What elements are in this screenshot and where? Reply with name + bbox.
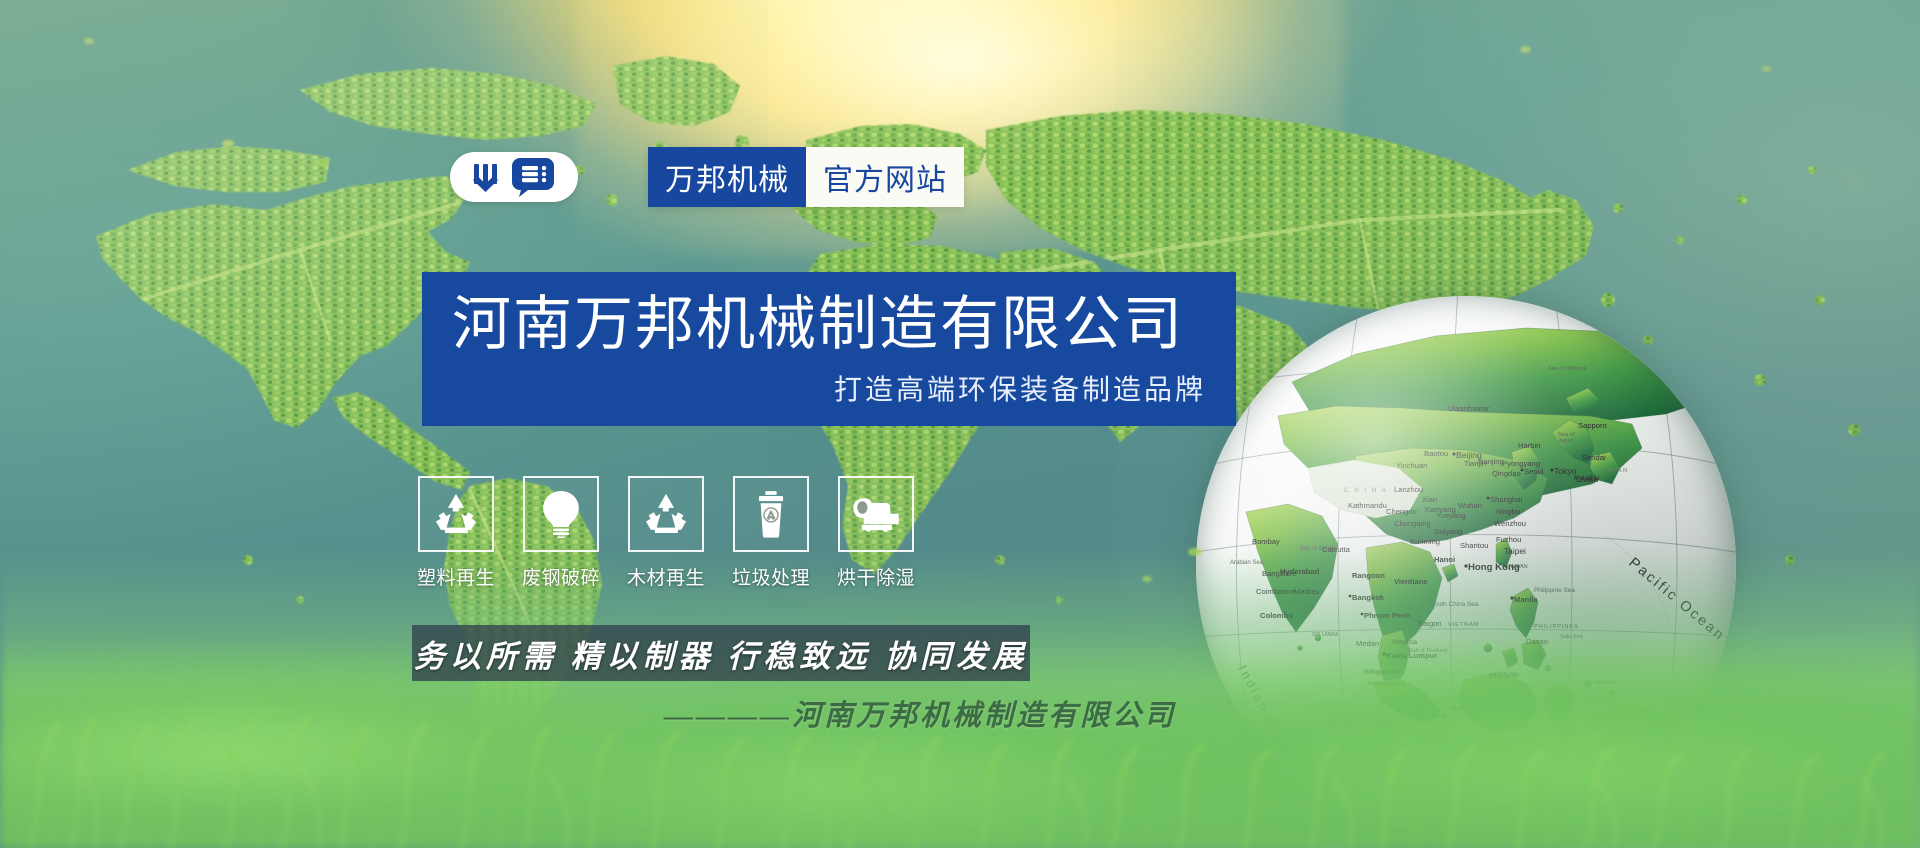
hero-title-panel: 河南万邦机械制造有限公司 打造高端环保装备制造品牌: [422, 272, 1236, 426]
logo-e-bubble-icon: [510, 156, 556, 198]
feature-label: 垃圾处理: [732, 563, 810, 590]
svg-text:Harbin: Harbin: [1518, 441, 1540, 450]
feature-label: 木材再生: [627, 563, 705, 590]
svg-text:Yueyang: Yueyang: [1436, 511, 1466, 520]
svg-text:Qingdao: Qingdao: [1492, 469, 1521, 478]
feature-label: 塑料再生: [417, 563, 495, 590]
svg-text:Chengdu: Chengdu: [1386, 507, 1417, 516]
company-name: 河南万邦机械制造有限公司: [452, 294, 1206, 356]
recycle-icon: [643, 491, 689, 537]
svg-text:Lanzhou: Lanzhou: [1394, 485, 1423, 494]
feature-icon-box[interactable]: [733, 476, 809, 552]
svg-text:Chongqing: Chongqing: [1394, 519, 1431, 528]
logo-badge[interactable]: [450, 152, 578, 202]
svg-text:Sea of Japan: Sea of Japan: [1558, 432, 1576, 444]
feature-icon-box[interactable]: [838, 476, 914, 552]
svg-text:Shanghai: Shanghai: [1490, 495, 1522, 504]
svg-text:Bombay: Bombay: [1252, 537, 1280, 546]
lightbulb-icon: [540, 490, 582, 538]
dryer-machine-icon: [852, 496, 900, 532]
company-tagline: 打造高端环保装备制造品牌: [452, 368, 1206, 408]
slogan-attribution: ————河南万邦机械制造有限公司: [660, 692, 1180, 734]
feature-icon-box[interactable]: [628, 476, 704, 552]
brand-logo[interactable]: [450, 152, 578, 202]
svg-text:Pyongyang: Pyongyang: [1502, 459, 1540, 468]
slogan-bar: 务以所需 精以制器 行稳致远 协同发展: [412, 625, 1030, 681]
svg-text:Ulaanbaatar: Ulaanbaatar: [1448, 404, 1490, 413]
slogan-text: 务以所需 精以制器 行稳致远 协同发展: [414, 631, 1028, 676]
hero-banner: Pacific Ocean Indian Ocean South China S…: [0, 0, 1920, 848]
svg-text:Xian: Xian: [1422, 495, 1437, 504]
site-nav-tabs[interactable]: 万邦机械 官方网站: [648, 147, 964, 207]
leaf-fleck: [84, 38, 94, 44]
feature-icon-box[interactable]: [523, 476, 599, 552]
svg-text:Sea of Okhotsk: Sea of Okhotsk: [1548, 366, 1586, 372]
leaf-fleck: [1762, 66, 1771, 72]
svg-text:Kyushu: Kyushu: [1574, 473, 1599, 482]
leaf-fleck: [1142, 576, 1152, 582]
feature-icon-box[interactable]: [418, 476, 494, 552]
feature-label: 烘干除湿: [837, 563, 915, 590]
svg-text:Wuhan: Wuhan: [1458, 501, 1482, 510]
leaf-fleck: [1520, 46, 1531, 53]
feature-item-drying-dehumidifying[interactable]: 烘干除湿: [838, 476, 914, 590]
logo-w-icon: [472, 162, 506, 192]
feature-icon-row: 塑料再生 废钢破碎: [418, 476, 914, 590]
svg-text:Ningbo: Ningbo: [1496, 507, 1520, 516]
svg-text:Kathmandu: Kathmandu: [1348, 501, 1387, 510]
feature-item-waste-treatment[interactable]: 垃圾处理: [733, 476, 809, 590]
tab-brand[interactable]: 万邦机械: [648, 147, 806, 207]
svg-text:C H I N A: C H I N A: [1344, 487, 1388, 494]
feature-item-wood-recycling[interactable]: 木材再生: [628, 476, 704, 590]
svg-text:Seoul: Seoul: [1524, 467, 1544, 476]
svg-text:Sapporo: Sapporo: [1578, 421, 1607, 430]
svg-text:Sendai: Sendai: [1582, 453, 1606, 462]
svg-text:Wenzhou: Wenzhou: [1494, 519, 1526, 528]
svg-text:Kunming: Kunming: [1410, 537, 1440, 546]
leaf-fleck: [1188, 548, 1202, 556]
svg-text:Fuzhou: Fuzhou: [1496, 535, 1521, 544]
svg-text:JAPAN: JAPAN: [1604, 468, 1628, 474]
svg-text:Yinchuan: Yinchuan: [1396, 461, 1427, 470]
svg-text:Baotou: Baotou: [1424, 449, 1448, 458]
trash-bin-icon: [754, 490, 788, 538]
feature-label: 废钢破碎: [522, 563, 600, 590]
leaf-fleck: [222, 140, 234, 147]
leaf-fleck: [318, 160, 327, 166]
svg-text:Guiyang: Guiyang: [1434, 527, 1462, 536]
feature-item-scrap-steel-crushing[interactable]: 废钢破碎: [523, 476, 599, 590]
tab-official-site[interactable]: 官方网站: [806, 147, 964, 207]
feature-item-plastic-recycling[interactable]: 塑料再生: [418, 476, 494, 590]
recycle-icon: [433, 491, 479, 537]
svg-text:Tianjin: Tianjin: [1464, 459, 1486, 468]
